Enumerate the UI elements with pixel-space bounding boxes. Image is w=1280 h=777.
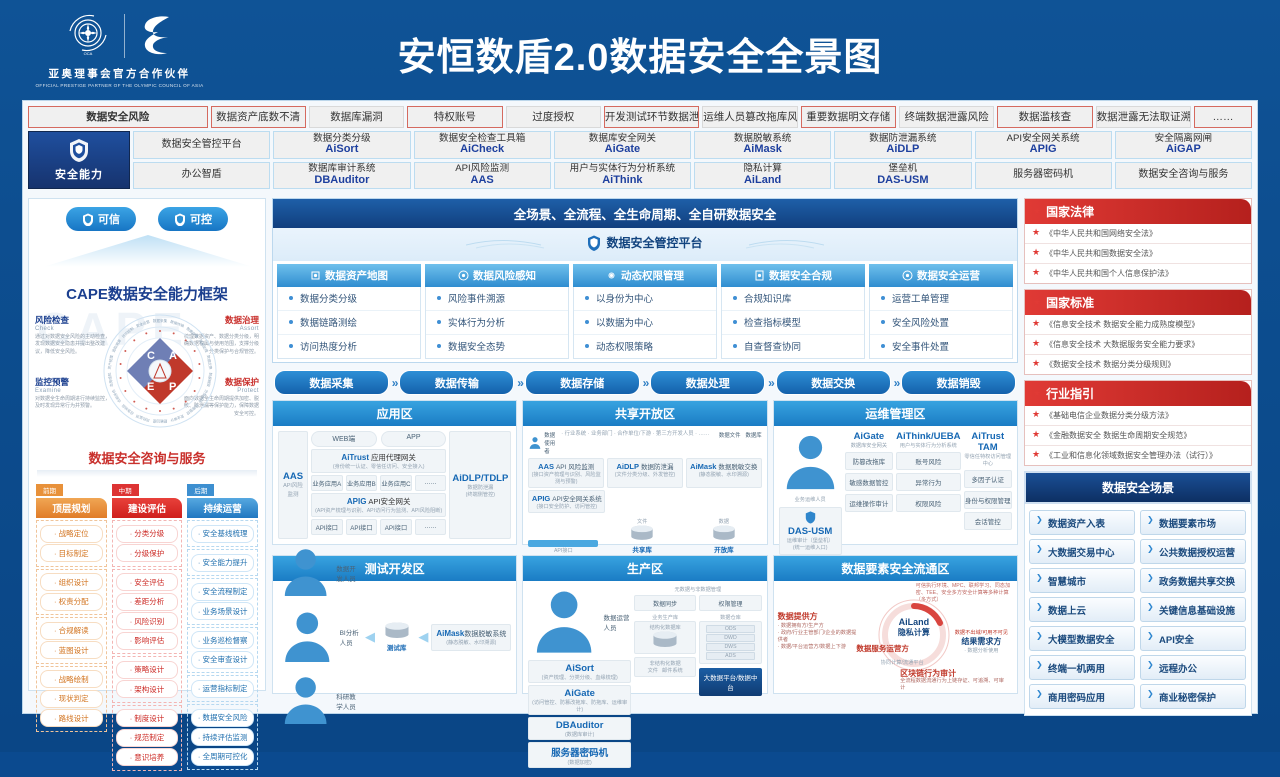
cape-wheel-icon: 数据采集数据传输数据存储数据处理数据交换数据销毁分类分级权限管控安全审计脱敏加密…	[101, 312, 219, 430]
lifecycle-stage[interactable]: 数据采集	[274, 370, 389, 395]
platform-card: 动态权限管理以身份为中心以数据为中心动态权限策略	[573, 264, 717, 360]
capability-name-cn: 数据安全管控平台	[162, 140, 242, 151]
aidlp-name: AiDLP/TDLP	[452, 473, 508, 484]
app-app-item[interactable]: 业务应用C	[380, 475, 412, 491]
risk-item[interactable]: ……	[1194, 106, 1252, 128]
circulation-middle-label: 数据服务运营方	[856, 643, 909, 654]
platform-card-body: 以身份为中心以数据为中心动态权限策略	[573, 287, 717, 360]
test-zone-body: 数据开发人员BI分析人员科研教学人员◀测试库◀AiMask数据脱敏系统(静态脱敏…	[273, 581, 516, 693]
ops-group-item[interactable]: 运维操作审计	[845, 494, 893, 512]
capability-column: 数据安全管控平台办公智盾	[133, 131, 270, 189]
platform-card-item[interactable]: 安全事件处置	[870, 335, 1012, 358]
capability-box[interactable]: 堡垒机DAS-USM	[834, 162, 971, 190]
capability-row: 安全能力 数据安全管控平台办公智盾数据分类分级AiSort数据库审计系统DBAu…	[23, 128, 1257, 194]
consult-item[interactable]: · 运营指标制定	[191, 680, 254, 698]
scenario-item[interactable]: 智慧城市	[1029, 568, 1135, 593]
database-icon	[651, 631, 679, 649]
circulation-provider-item: · 数据/平台运营方/数据上下游	[778, 643, 861, 650]
consult-group: · 数据安全风险· 持续评估监测· 全周期可控化	[187, 704, 258, 770]
prod-product-note: (资产梳理、分类分级、血缘梳理)	[530, 674, 629, 681]
prod-mid: 无数据与非数据管理数据同步权限管理业务生产库结构化数据库非结构化数据文件邮件系统…	[634, 586, 762, 688]
main-canvas: 数据安全风险 数据资产底数不清数据库漏洞特权账号过度授权开发测试环节数据泄露运维…	[22, 100, 1258, 714]
zone-bottom-3: 数据要素安全流通区可信执行环境、MPC、联邦学习、同态加密、TEE、安全多方安全…	[773, 555, 1018, 694]
person-icon	[278, 673, 333, 728]
scenario-item[interactable]: 关键信息基础设施	[1140, 597, 1246, 622]
regulation-item[interactable]: ★《信息安全技术 数据安全能力成熟度模型》	[1025, 315, 1251, 335]
app-app-item[interactable]: ……	[415, 475, 447, 491]
app-gateway-title: AiTrust 应用代理网关	[312, 452, 445, 463]
platform-card-head[interactable]: 数据资产地图	[277, 264, 421, 287]
app-apps-row: 业务应用A业务应用B业务应用C……	[311, 475, 446, 491]
platform-card-item[interactable]: 安全风险处置	[870, 311, 1012, 335]
consult-item[interactable]: · 风险识别	[116, 612, 179, 630]
regulation-item-label: 《中华人民共和国数据安全法》	[1045, 249, 1157, 258]
scenario-item[interactable]: 商用密码应用	[1029, 684, 1135, 709]
prod-dw-col: 数据仓库ODSDWDDWSADS大数据平台/数据中台	[699, 614, 761, 696]
aidlp-block[interactable]: AiDLP/TDLP数据防泄漏(终端侧管控)	[449, 431, 511, 539]
platform-card-item[interactable]: 自查督查协同	[722, 335, 864, 358]
share-db-icon-label: 文件	[604, 518, 680, 525]
page-header: OCA 亚奥理事会官方合作伙伴 OFFICIAL PRESTIGE PARTNE…	[0, 0, 1280, 98]
lifecycle-stage[interactable]: 数据处理	[650, 370, 765, 395]
capability-box[interactable]: 办公智盾	[133, 162, 270, 190]
capability-box[interactable]: 数据库安全网关AiGate	[554, 131, 691, 159]
app-gateway[interactable]: AiTrust 应用代理网关(身份统一认证、零信任访问、安全接入)	[311, 449, 446, 473]
prod-product[interactable]: 服务器密码机(数据加密)	[528, 742, 631, 768]
share-product[interactable]: AAS API 风险监测(接口资产梳理与识别、风险监测与预警)	[528, 458, 604, 488]
scenario-item[interactable]: 公共数据授权运营	[1140, 539, 1246, 564]
share-db-icon-label: 数据	[686, 518, 762, 525]
capability-box[interactable]: 数据分类分级AiSort	[273, 131, 410, 159]
capability-box[interactable]: 用户与实体行为分析系统AiThink	[554, 162, 691, 190]
scenario-item[interactable]: 商业秘密保护	[1140, 684, 1246, 709]
platform-card-item[interactable]: 以数据为中心	[574, 311, 716, 335]
regulation-block: ★行业指引★《基础电信企业数据分类分级方法》★《金融数据安全 数据生命周期安全规…	[1024, 380, 1252, 466]
shield-check-icon	[82, 213, 94, 226]
consult-columns: 前期顶层规划· 战略定位· 目标制定· 组织设计· 权责分配· 合规解读· 蓝图…	[29, 477, 265, 777]
share-actor-label: 数据使用者	[544, 431, 557, 455]
star-icon: ★	[1032, 318, 1040, 329]
left-panel: 可信可控 CAPE数据安全能力框架 CAPE 风险检查 Check 通过对数据安…	[28, 198, 266, 691]
share-product-note: (接口安全防护、访问管控)	[530, 503, 603, 510]
ops-zone-body: 业务运维人员DAS-USM运维审计（堡垒机）(统一运维入口)AiGate数据库安…	[774, 426, 1017, 544]
consult-group: · 安全评估· 差距分析· 风险识别· 影响评估	[112, 569, 183, 655]
star-icon: ★	[1033, 297, 1041, 308]
platform-card-item[interactable]: 实体行为分析	[426, 311, 568, 335]
star-icon: ★	[1032, 449, 1040, 460]
share-product[interactable]: AiMask 数据脱敏交换(静态脱敏、水印溯源)	[686, 458, 762, 488]
scenario-item[interactable]: 政务数据共享交换	[1140, 568, 1246, 593]
platform-card-body: 合规知识库检查指标模型自查督查协同	[721, 287, 865, 360]
platform-card-body: 运营工单管理安全风险处置安全事件处置	[869, 287, 1013, 360]
ops-group-item[interactable]: 账号风险	[896, 452, 960, 470]
ops-group-item[interactable]: 异常行为	[896, 473, 960, 491]
risk-item[interactable]: 特权账号	[407, 106, 502, 128]
app-app-item[interactable]: API接口	[380, 519, 412, 535]
ops-group-item[interactable]: 敏感数据管控	[845, 473, 893, 491]
capability-box[interactable]: 数据脱敏系统AiMask	[694, 131, 831, 159]
regulation-item[interactable]: ★《金融数据安全 数据生命周期安全规范》	[1025, 426, 1251, 446]
circulation-consumer-item: · 数据分析使用	[950, 647, 1013, 654]
zones-bottom-row: 测试开发区数据开发人员BI分析人员科研教学人员◀测试库◀AiMask数据脱敏系统…	[272, 555, 1018, 694]
stage-arrow-icon: »	[516, 376, 523, 390]
prod-product-name: AiSort	[530, 663, 629, 674]
scenario-item[interactable]: 数据资产入表	[1029, 510, 1135, 535]
regulation-head: ★行业指引	[1025, 381, 1251, 406]
ops-actor: 业务运维人员	[779, 431, 842, 503]
lifecycle-stage[interactable]: 数据交换	[776, 370, 891, 395]
circulation-middle-sub: 协同计算/流通平台	[881, 659, 924, 666]
capability-name-en: AAS	[471, 175, 494, 187]
consult-group: · 合规解读· 蓝图设计	[36, 617, 107, 664]
regulation-item-label: 《中华人民共和国网络安全法》	[1045, 229, 1157, 238]
platform-card-item[interactable]: 风险事件溯源	[426, 287, 568, 311]
regulation-item[interactable]: ★《数据安全技术 数据分类分级规则》	[1025, 355, 1251, 374]
prod-mgmt-title: 无数据与非数据管理	[634, 586, 762, 593]
regulation-item-label: 《信息安全技术 数据安全能力成熟度模型》	[1045, 320, 1199, 329]
app-app-item[interactable]: ……	[415, 519, 447, 535]
prod-product[interactable]: AiGate(访问管控、防篡改拖库、防拖库、运维审计)	[528, 685, 631, 715]
regulation-block: ★国家法律★《中华人民共和国网络安全法》★《中华人民共和国数据安全法》★《中华人…	[1024, 198, 1252, 284]
scenario-item[interactable]: API安全	[1140, 626, 1246, 651]
consult-group: · 战略定位· 目标制定	[36, 520, 107, 567]
capability-name-en: AiMask	[743, 144, 782, 156]
star-icon: ★	[1032, 358, 1040, 369]
consult-item[interactable]: · 安全评估	[116, 573, 179, 591]
platform-card-title: 数据风险感知	[473, 268, 536, 283]
wave-decoration-left	[466, 238, 616, 252]
scenario-item[interactable]: 远程办公	[1140, 655, 1246, 680]
consult-group: · 业务巡检督察· 安全审查设计	[187, 627, 258, 674]
consult-item[interactable]: · 业务巡检督察	[191, 631, 254, 649]
zones-top-row: 应用区AASAPI风险监测WEB端APPAiTrust 应用代理网关(身份统一认…	[272, 400, 1018, 545]
app-app-item[interactable]: 业务应用B	[346, 475, 378, 491]
consult-item[interactable]: · 战略绘制	[40, 670, 103, 688]
capability-name-en: AiLand	[744, 175, 781, 187]
capability-name-en: AiThink	[602, 175, 642, 187]
shield-icon	[805, 511, 816, 524]
capability-box[interactable]: 数据防泄漏系统AiDLP	[834, 131, 971, 159]
capability-box[interactable]: 数据库审计系统DBAuditor	[273, 162, 410, 190]
stage-arrow-icon: »	[893, 376, 900, 390]
share-product[interactable]: APIG API安全网关系统(接口安全防护、访问管控)	[528, 490, 605, 513]
app-gateway[interactable]: APIG API安全网关(API资产梳理与识别、API访问行为监测、API风险阻…	[311, 493, 446, 517]
trust-pill[interactable]: 可控	[158, 207, 228, 231]
platform-card-head[interactable]: 数据安全合规	[721, 264, 865, 287]
stage-arrow-icon: »	[642, 376, 649, 390]
platform-card-item[interactable]: 检查指标模型	[722, 311, 864, 335]
bastion-desc: 运维审计（堡垒机）	[781, 537, 840, 544]
platform-card-title: 数据安全运营	[917, 268, 980, 283]
platform-card-item[interactable]: 动态权限策略	[574, 335, 716, 358]
consult-item[interactable]: · 安全审查设计	[191, 651, 254, 669]
risk-item[interactable]: 数据泄露无法取证溯源	[1096, 106, 1191, 128]
prod-nonstruct-item: 邮件系统	[662, 667, 683, 674]
consult-item[interactable]: · 现状判定	[40, 690, 103, 708]
consult-item[interactable]: · 权责分配	[40, 593, 103, 611]
app-app-item[interactable]: API接口	[311, 519, 343, 535]
consult-item[interactable]: · 战略定位	[40, 525, 103, 543]
trust-pill-label: 可信	[98, 211, 120, 227]
share-actor: 数据使用者	[528, 431, 557, 455]
test-product[interactable]: AiMask数据脱敏系统(静态脱敏、水印溯源)	[431, 624, 511, 651]
ops-group-cn: 零信任特权访问管理中心	[964, 453, 1012, 467]
consult-item[interactable]: · 制度设计	[116, 709, 179, 727]
consult-item[interactable]: · 全周期可控化	[191, 748, 254, 766]
page-root: OCA 亚奥理事会官方合作伙伴 OFFICIAL PRESTIGE PARTNE…	[0, 0, 1280, 752]
center-panel: 全场景、全流程、全生命周期、全自研数据安全	[272, 198, 1018, 691]
consult-column: 前期顶层规划· 战略定位· 目标制定· 组织设计· 权责分配· 合规解读· 蓝图…	[36, 480, 107, 771]
capability-box[interactable]: 数据安全咨询与服务	[1115, 162, 1252, 190]
ops-group: AiGate数据库安全网关防篡改拖库敏感数据管控运维操作审计	[845, 431, 893, 539]
star-icon: ★	[1032, 338, 1040, 349]
prod-dw-tag: ADS	[706, 652, 754, 660]
risk-item[interactable]: 终端数据泄露风险	[899, 106, 994, 128]
platform-card-item[interactable]: 以身份为中心	[574, 287, 716, 311]
app-channel[interactable]: WEB端	[311, 431, 377, 447]
share-product-title: AiMask 数据脱敏交换	[688, 461, 760, 471]
scenario-item[interactable]: 数据上云	[1029, 597, 1135, 622]
capability-column: API安全网关系统APIG服务器密码机	[975, 131, 1112, 189]
aas-block[interactable]: AASAPI风险监测	[278, 431, 308, 539]
test-actor-label: BI分析人员	[340, 627, 362, 647]
trust-pills: 可信可控	[29, 199, 265, 231]
consult-item[interactable]: · 安全能力提升	[191, 554, 254, 572]
consult-title: 数据安全咨询与服务	[29, 448, 265, 467]
consult-item[interactable]: · 数据安全风险	[191, 709, 254, 727]
scenario-item[interactable]: 大数据交易中心	[1029, 539, 1135, 564]
capability-box[interactable]: API安全网关系统APIG	[975, 131, 1112, 159]
regulation-head-label: 国家法律	[1046, 203, 1094, 220]
platform-card-item[interactable]: 数据安全态势	[426, 335, 568, 358]
consult-group: · 安全流程制定· 业务场景设计	[187, 578, 258, 625]
svg-text:态势感知: 态势感知	[106, 372, 113, 387]
app-channel-row: WEB端APP	[311, 431, 446, 447]
consult-item[interactable]: · 安全基线梳理	[191, 525, 254, 543]
platform-card-head[interactable]: 动态权限管理	[573, 264, 717, 287]
prod-mgmt-item[interactable]: 权限管理	[699, 595, 761, 611]
consult-item[interactable]: · 目标制定	[40, 544, 103, 562]
share-product-title: AAS API 风险监测	[530, 461, 602, 471]
consult-item[interactable]: · 安全流程制定	[191, 583, 254, 601]
ops-group-item[interactable]: 多因子认证	[964, 470, 1012, 488]
test-actor-label: 科研教学人员	[336, 691, 362, 711]
risk-item[interactable]: 运维人员篡改拖库风险	[702, 106, 797, 128]
platform-card-item[interactable]: 数据分类分级	[278, 287, 420, 311]
zone-title: 生产区	[523, 556, 766, 581]
trust-pill[interactable]: 可信	[66, 207, 136, 231]
database-icon	[629, 525, 655, 542]
regulation-item-label: 《信息安全技术 大数据服务安全能力要求》	[1045, 340, 1199, 349]
platform-card-title: 动态权限管理	[621, 268, 684, 283]
ops-group: AiTrust TAM零信任特权访问管理中心多因子认证身份与权限管理会话管控	[964, 431, 1012, 539]
capability-box[interactable]: 数据安全检查工具箱AiCheck	[414, 131, 551, 159]
consult-item[interactable]: · 路线设计	[40, 709, 103, 727]
database-icon	[711, 525, 737, 542]
share-product[interactable]: AiDLP 数据防泄漏(文件分类分级、外发管控)	[607, 458, 683, 488]
lifecycle-stage[interactable]: 数据存储	[525, 370, 640, 395]
scenario-item[interactable]: 大模型数据安全	[1029, 626, 1135, 651]
capability-box[interactable]: 数据安全管控平台	[133, 131, 270, 159]
platform-card: 数据资产地图数据分类分级数据链路测绘访问热度分析	[277, 264, 421, 360]
prod-platform-badge[interactable]: 大数据平台/数据中台	[699, 668, 761, 696]
prod-db-col: 业务生产库结构化数据库非结构化数据文件邮件系统	[634, 614, 696, 696]
zone-title: 应用区	[273, 401, 516, 426]
upward-arrow-decoration	[43, 235, 253, 269]
scenario-item[interactable]: 数据要素市场	[1140, 510, 1246, 535]
platform-block: 全场景、全流程、全生命周期、全自研数据安全	[272, 198, 1018, 363]
ops-group-item[interactable]: 会话管控	[964, 512, 1012, 530]
capability-name-cn: 用户与实体行为分析系统	[570, 164, 676, 174]
circulation-consumer: 数据不出域/可用不可见结果需求方· 数据分析使用	[950, 629, 1013, 654]
platform-card-item[interactable]: 合规知识库	[722, 287, 864, 311]
platform-card-head[interactable]: 数据安全运营	[869, 264, 1013, 287]
zone-title: 共享开放区	[523, 401, 766, 426]
star-icon: ★	[1033, 388, 1041, 399]
share-product-note: (文件分类分级、外发管控)	[609, 471, 681, 478]
platform-card-body: 风险事件溯源实体行为分析数据安全态势	[425, 287, 569, 360]
capability-box[interactable]: 服务器密码机	[975, 162, 1112, 190]
lifecycle-stage[interactable]: 数据传输	[399, 370, 514, 395]
prod-db-col-title: 业务生产库	[634, 614, 696, 621]
consult-item[interactable]: · 意识培养	[116, 748, 179, 766]
platform-cards: 数据资产地图数据分类分级数据链路测绘访问热度分析数据风险感知风险事件溯源实体行为…	[273, 261, 1017, 363]
capability-name-cn: 数据库审计系统	[308, 164, 375, 174]
app-zone-body: AASAPI风险监测WEB端APPAiTrust 应用代理网关(身份统一认证、零…	[273, 426, 516, 544]
consult-item[interactable]: · 差距分析	[116, 593, 179, 611]
consult-item[interactable]: · 组织设计	[40, 573, 103, 591]
database-icon	[383, 622, 411, 640]
person-icon	[278, 608, 337, 667]
person-icon	[278, 545, 333, 600]
capability-box[interactable]: API风险监测AAS	[414, 162, 551, 190]
platform-card-item[interactable]: 数据链路测绘	[278, 311, 420, 335]
circulation-center-cn: 隐私计算	[876, 627, 952, 638]
consult-item[interactable]: · 规范制定	[116, 729, 179, 747]
blockchain-audit-note: 全流程数据流通行为上链存证、可追溯、可审计	[900, 677, 1007, 691]
consult-item[interactable]: · 蓝图设计	[40, 641, 103, 659]
ops-group-item[interactable]: 防篡改拖库	[845, 452, 893, 470]
prod-product[interactable]: AiSort(资产梳理、分类分级、血缘梳理)	[528, 660, 631, 683]
regulation-item-label: 《金融数据安全 数据生命周期安全规范》	[1045, 431, 1191, 440]
bastion-block[interactable]: DAS-USM运维审计（堡垒机）(统一运维入口)	[779, 507, 842, 555]
platform-card-item[interactable]: 访问热度分析	[278, 335, 420, 358]
regulation-item[interactable]: ★《中华人民共和国数据安全法》	[1025, 244, 1251, 264]
prod-mgmt-item[interactable]: 数据同步	[634, 595, 696, 611]
prod-dw-title: 数据仓库	[699, 614, 761, 621]
prod-product-note: (数据加密)	[530, 759, 629, 766]
lifecycle-stages: 数据采集»数据传输»数据存储»数据处理»数据交换»数据销毁	[272, 363, 1018, 400]
regulation-item[interactable]: ★《中华人民共和国网络安全法》	[1025, 224, 1251, 244]
platform-card-body: 数据分类分级数据链路测绘访问热度分析	[277, 287, 421, 360]
zone-bottom-1: 测试开发区数据开发人员BI分析人员科研教学人员◀测试库◀AiMask数据脱敏系统…	[272, 555, 517, 694]
capability-name-cn: 堡垒机	[888, 164, 917, 174]
capability-brand: 安全能力	[28, 131, 130, 189]
consult-item[interactable]: · 分级保护	[116, 544, 179, 562]
prod-nonstruct-box: 非结构化数据文件邮件系统	[634, 657, 696, 677]
capability-name-en: AiGAP	[1166, 144, 1201, 156]
risk-item[interactable]: 过度授权	[506, 106, 601, 128]
capability-box[interactable]: 安全隔离网闸AiGAP	[1115, 131, 1252, 159]
share-products-2: APIG API安全网关系统(接口安全防护、访问管控)	[528, 490, 761, 513]
ops-group-en: AiTrust TAM	[964, 431, 1012, 453]
regulation-item[interactable]: ★《基础电信企业数据分类分级方法》	[1025, 406, 1251, 426]
lifecycle-stage[interactable]: 数据销毁	[901, 370, 1016, 395]
zone-3: 运维管理区业务运维人员DAS-USM运维审计（堡垒机）(统一运维入口)AiGat…	[773, 400, 1018, 545]
risk-item[interactable]: 重要数据明文存储	[801, 106, 896, 128]
checklist-icon	[754, 270, 765, 281]
platform-card-head[interactable]: 数据风险感知	[425, 264, 569, 287]
capability-box[interactable]: 隐私计算AiLand	[694, 162, 831, 190]
right-panel: ★国家法律★《中华人民共和国网络安全法》★《中华人民共和国数据安全法》★《中华人…	[1024, 198, 1252, 691]
ops-group-item[interactable]: 权限风险	[896, 494, 960, 512]
prod-nonstruct-title: 非结构化数据	[637, 660, 693, 667]
risk-item[interactable]: 数据滥核查	[997, 106, 1092, 128]
bastion-note: (统一运维入口)	[781, 544, 840, 551]
wave-decoration-right	[674, 238, 824, 252]
consult-item[interactable]: · 策略设计	[116, 661, 179, 679]
consult-item[interactable]: · 业务场景设计	[191, 602, 254, 620]
risk-item[interactable]: 开发测试环节数据泄露	[604, 106, 699, 128]
share-data-icons: 数据文件数据库	[719, 431, 762, 439]
consult-item[interactable]: · 持续评估监测	[191, 728, 254, 746]
app-gateway-title: APIG API安全网关	[312, 496, 445, 507]
svg-text:P: P	[169, 381, 176, 393]
prod-product[interactable]: DBAuditor(数据库审计)	[528, 717, 631, 740]
arrow-left-icon: ◀	[365, 629, 375, 645]
prod-product-name: DBAuditor	[530, 720, 629, 731]
capability-name-en: DAS-USM	[877, 175, 928, 187]
star-icon: ★	[1033, 206, 1041, 217]
consult-item[interactable]: · 合规解读	[40, 622, 103, 640]
consult-item[interactable]: · 分类分级	[116, 525, 179, 543]
bastion-name: DAS-USM	[781, 526, 840, 537]
risk-row: 数据安全风险 数据资产底数不清数据库漏洞特权账号过度授权开发测试环节数据泄露运维…	[23, 101, 1257, 128]
regulation-item[interactable]: ★《工业和信息化领域数据安全管理办法（试行）》	[1025, 446, 1251, 465]
scenario-item[interactable]: 终端一机两用	[1029, 655, 1135, 680]
share-product-title: APIG API安全网关系统	[530, 493, 603, 503]
consult-group: · 安全基线梳理	[187, 520, 258, 547]
circulation-center: AiLand隐私计算	[876, 617, 952, 638]
regulation-item-label: 《基础电信企业数据分类分级方法》	[1045, 411, 1173, 420]
regulation-item[interactable]: ★《中华人民共和国个人信息保护法》	[1025, 264, 1251, 283]
platform-card-item[interactable]: 运营工单管理	[870, 287, 1012, 311]
consult-phase-tag: 前期	[36, 484, 63, 496]
app-app-item[interactable]: API接口	[346, 519, 378, 535]
regulation-item-label: 《中华人民共和国个人信息保护法》	[1045, 269, 1173, 278]
scenarios-title: 数据安全场景	[1024, 471, 1252, 504]
prod-db-tag: 结构化数据库	[637, 624, 693, 631]
regulation-head-label: 行业指引	[1046, 385, 1094, 402]
prod-nonstruct-items: 文件邮件系统	[637, 667, 693, 674]
arrow-left-icon: ◀	[418, 629, 428, 645]
test-product-note: (静态脱敏、水印溯源)	[434, 639, 508, 646]
app-app-item[interactable]: 业务应用A	[311, 475, 343, 491]
consult-column-head: 建设评估	[112, 498, 183, 518]
regulation-item[interactable]: ★《信息安全技术 大数据服务安全能力要求》	[1025, 335, 1251, 355]
prod-actor: 数据运营人员	[528, 586, 631, 658]
test-actor-label: 数据开发人员	[336, 563, 362, 583]
share-product-note: (接口资产梳理与识别、风险监测与预警)	[530, 471, 602, 485]
ops-group-item[interactable]: 身份与权限管理	[964, 491, 1012, 509]
shield-lock-icon	[174, 213, 186, 226]
risk-item[interactable]: 数据库漏洞	[309, 106, 404, 128]
app-channel[interactable]: APP	[381, 431, 447, 447]
consult-item[interactable]: · 影响评估	[116, 632, 179, 650]
trust-pill-label: 可控	[190, 211, 212, 227]
consult-item[interactable]: · 架构设计	[116, 680, 179, 698]
risk-item[interactable]: 数据资产底数不清	[211, 106, 306, 128]
